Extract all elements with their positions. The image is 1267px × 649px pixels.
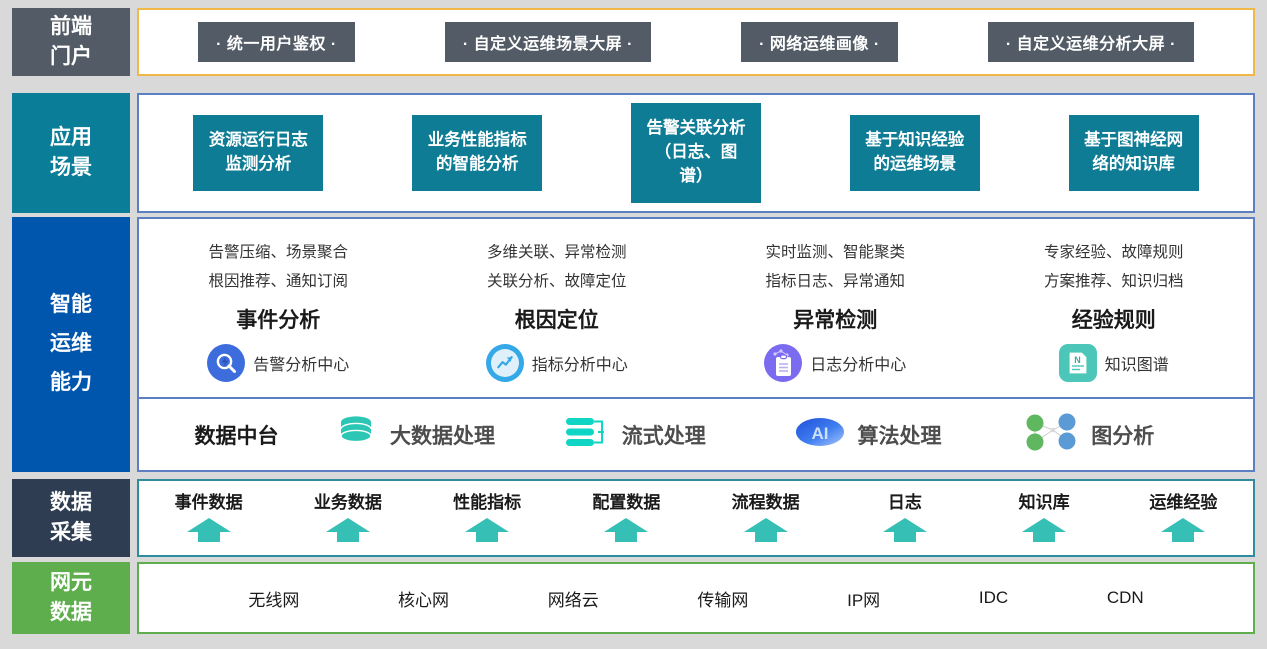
layer-label-line: 场景 (50, 153, 92, 183)
capability-title: 经验规则 (1072, 304, 1156, 334)
capability-tool[interactable]: 日志分析中心 (764, 344, 906, 382)
portal-panel: · 统一用户鉴权 · · 自定义运维场景大屏 · · 网络运维画像 · · 自定… (137, 8, 1255, 76)
layer-data-collection: 数据 采集 事件数据 业务数据 性能指标 配置数据 流程数据 日志 知识库 (12, 479, 1255, 557)
capability-root-cause: 多维关联、异常检测 关联分析、故障定位 根因定位 指标分析中心 (418, 219, 697, 397)
alert-analysis-icon (207, 344, 245, 382)
stream-icon (564, 414, 610, 455)
capability-anomaly-detection: 实时监测、智能聚类 指标日志、异常通知 异常检测 (696, 219, 975, 397)
ne-item-cdn[interactable]: CDN (1107, 588, 1144, 608)
collection-item-logs[interactable]: 日志 (835, 481, 974, 555)
layer-label-line: 应用 (50, 123, 92, 153)
application-panel: 资源运行日志监测分析 业务性能指标的智能分析 告警关联分析（日志、图谱） 基于知… (137, 93, 1255, 213)
capability-experience-rules: 专家经验、故障规则 方案推荐、知识归档 经验规则 N 知识图谱 (975, 219, 1254, 397)
layer-label-line: 门户 (50, 42, 92, 72)
layer-label-line: 能力 (50, 364, 92, 403)
data-midend-panel: 数据中台 大数据处理 (137, 399, 1255, 472)
arrow-up-icon (464, 517, 510, 548)
layer-label-line: 网元 (50, 568, 92, 598)
capability-title: 根因定位 (515, 304, 599, 334)
metric-analysis-icon (486, 344, 524, 382)
data-midend-item-bigdata[interactable]: 大数据处理 (334, 414, 564, 455)
app-chip-graph-neural-kb[interactable]: 基于图神经网络的知识库 (1069, 115, 1199, 191)
layer-label-network-element: 网元 数据 (12, 562, 130, 634)
portal-chip-unified-auth[interactable]: · 统一用户鉴权 · (198, 22, 355, 62)
layer-label-line: 数据 (50, 598, 92, 628)
layer-label-application: 应用 场景 (12, 93, 130, 213)
arrow-up-icon (1021, 517, 1067, 548)
app-chip-resource-log[interactable]: 资源运行日志监测分析 (193, 115, 323, 191)
ne-item-network-cloud[interactable]: 网络云 (548, 586, 599, 611)
network-element-panel: 无线网 核心网 网络云 传输网 IP网 IDC CDN (137, 562, 1255, 634)
collection-item-label: 配置数据 (592, 488, 660, 513)
collection-item-business-data[interactable]: 业务数据 (278, 481, 417, 555)
capability-bullet: 实时监测、智能聚类 (765, 239, 905, 268)
capability-bullet: 告警压缩、场景聚合 (208, 239, 348, 268)
ne-item-core[interactable]: 核心网 (398, 586, 449, 611)
capability-bullet: 专家经验、故障规则 (1044, 239, 1184, 268)
capability-bullet: 根因推荐、通知订阅 (208, 268, 348, 297)
capability-tool-label: 日志分析中心 (810, 351, 906, 375)
ne-item-ip[interactable]: IP网 (847, 586, 880, 611)
layer-label-portal: 前端 门户 (12, 8, 130, 76)
graph-network-icon (1023, 412, 1079, 457)
capability-title: 异常检测 (793, 304, 877, 334)
capability-bullet: 指标日志、异常通知 (765, 268, 905, 297)
layer-label-aiops: 智能 运维 能力 (12, 217, 130, 472)
capability-tool-label: 指标分析中心 (532, 351, 628, 375)
layer-label-line: 运维 (50, 325, 92, 364)
arrow-up-icon (743, 517, 789, 548)
layer-label-line: 前端 (50, 12, 92, 42)
layer-label-collection: 数据 采集 (12, 479, 130, 557)
capability-bullet: 关联分析、故障定位 (487, 268, 627, 297)
capability-title: 事件分析 (236, 304, 320, 334)
capability-bullet: 方案推荐、知识归档 (1044, 268, 1184, 297)
portal-chip-network-ops-profile[interactable]: · 网络运维画像 · (741, 22, 898, 62)
capability-tool[interactable]: N 知识图谱 (1059, 344, 1169, 382)
collection-item-label: 业务数据 (314, 488, 382, 513)
data-midend-item-label: 大数据处理 (390, 420, 495, 450)
data-midend-item-label: 流式处理 (622, 420, 706, 450)
collection-item-label: 日志 (888, 488, 922, 513)
collection-item-process-data[interactable]: 流程数据 (696, 481, 835, 555)
collection-item-label: 运维经验 (1149, 488, 1217, 513)
ai-icon: AI (794, 414, 846, 455)
portal-chip-custom-ops-dashboard[interactable]: · 自定义运维场景大屏 · (445, 22, 651, 62)
arrow-up-icon (186, 517, 232, 548)
data-midend-item-algorithm[interactable]: AI 算法处理 (794, 414, 1024, 455)
arrow-up-icon (882, 517, 928, 548)
collection-item-ops-experience[interactable]: 运维经验 (1114, 481, 1253, 555)
app-chip-knowledge-experience[interactable]: 基于知识经验的运维场景 (850, 115, 980, 191)
app-chip-business-kpi[interactable]: 业务性能指标的智能分析 (412, 115, 542, 191)
svg-text:N: N (1074, 355, 1081, 365)
arrow-up-icon (325, 517, 371, 548)
capability-bullet: 多维关联、异常检测 (487, 239, 627, 268)
layer-aiops-capability: 智能 运维 能力 告警压缩、场景聚合 根因推荐、通知订阅 事件分析 (12, 217, 1255, 472)
collection-item-performance-kpi[interactable]: 性能指标 (418, 481, 557, 555)
database-icon (334, 414, 378, 455)
svg-text:AI: AI (811, 424, 828, 443)
ne-item-transport[interactable]: 传输网 (697, 586, 748, 611)
collection-item-label: 性能指标 (453, 488, 521, 513)
collection-item-label: 流程数据 (732, 488, 800, 513)
layer-network-element-data: 网元 数据 无线网 核心网 网络云 传输网 IP网 IDC CDN (12, 562, 1255, 634)
arrow-up-icon (1160, 517, 1206, 548)
data-midend-item-label: 算法处理 (858, 420, 942, 450)
ne-item-idc[interactable]: IDC (979, 588, 1008, 608)
data-midend-title: 数据中台 (139, 420, 334, 450)
collection-item-knowledge-base[interactable]: 知识库 (975, 481, 1114, 555)
ne-item-wireless[interactable]: 无线网 (248, 586, 299, 611)
layer-application-scenarios: 应用 场景 资源运行日志监测分析 业务性能指标的智能分析 告警关联分析（日志、图… (12, 93, 1255, 213)
collection-item-config-data[interactable]: 配置数据 (557, 481, 696, 555)
data-midend-item-stream[interactable]: 流式处理 (564, 414, 794, 455)
layer-portal: 前端 门户 · 统一用户鉴权 · · 自定义运维场景大屏 · · 网络运维画像 … (12, 8, 1255, 76)
data-midend-item-graph[interactable]: 图分析 (1023, 412, 1253, 457)
data-midend-item-label: 图分析 (1091, 420, 1154, 450)
portal-chip-custom-analysis-dashboard[interactable]: · 自定义运维分析大屏 · (988, 22, 1194, 62)
collection-item-label: 事件数据 (175, 488, 243, 513)
collection-panel: 事件数据 业务数据 性能指标 配置数据 流程数据 日志 知识库 运维经验 (137, 479, 1255, 557)
aiops-capability-panel: 告警压缩、场景聚合 根因推荐、通知订阅 事件分析 告警分析中心 (137, 217, 1255, 399)
collection-item-event-data[interactable]: 事件数据 (139, 481, 278, 555)
collection-item-label: 知识库 (1019, 488, 1070, 513)
capability-tool[interactable]: 告警分析中心 (207, 344, 349, 382)
arrow-up-icon (603, 517, 649, 548)
layer-label-line: 智能 (50, 286, 92, 325)
layer-label-line: 采集 (50, 518, 92, 548)
app-chip-alarm-correlation[interactable]: 告警关联分析（日志、图谱） (631, 103, 761, 203)
capability-tool-label: 知识图谱 (1105, 351, 1169, 375)
log-analysis-icon (764, 344, 802, 382)
layer-label-line: 数据 (50, 488, 92, 518)
capability-tool[interactable]: 指标分析中心 (486, 344, 628, 382)
knowledge-graph-icon: N (1059, 344, 1097, 382)
capability-event-analysis: 告警压缩、场景聚合 根因推荐、通知订阅 事件分析 告警分析中心 (139, 219, 418, 397)
capability-tool-label: 告警分析中心 (253, 351, 349, 375)
